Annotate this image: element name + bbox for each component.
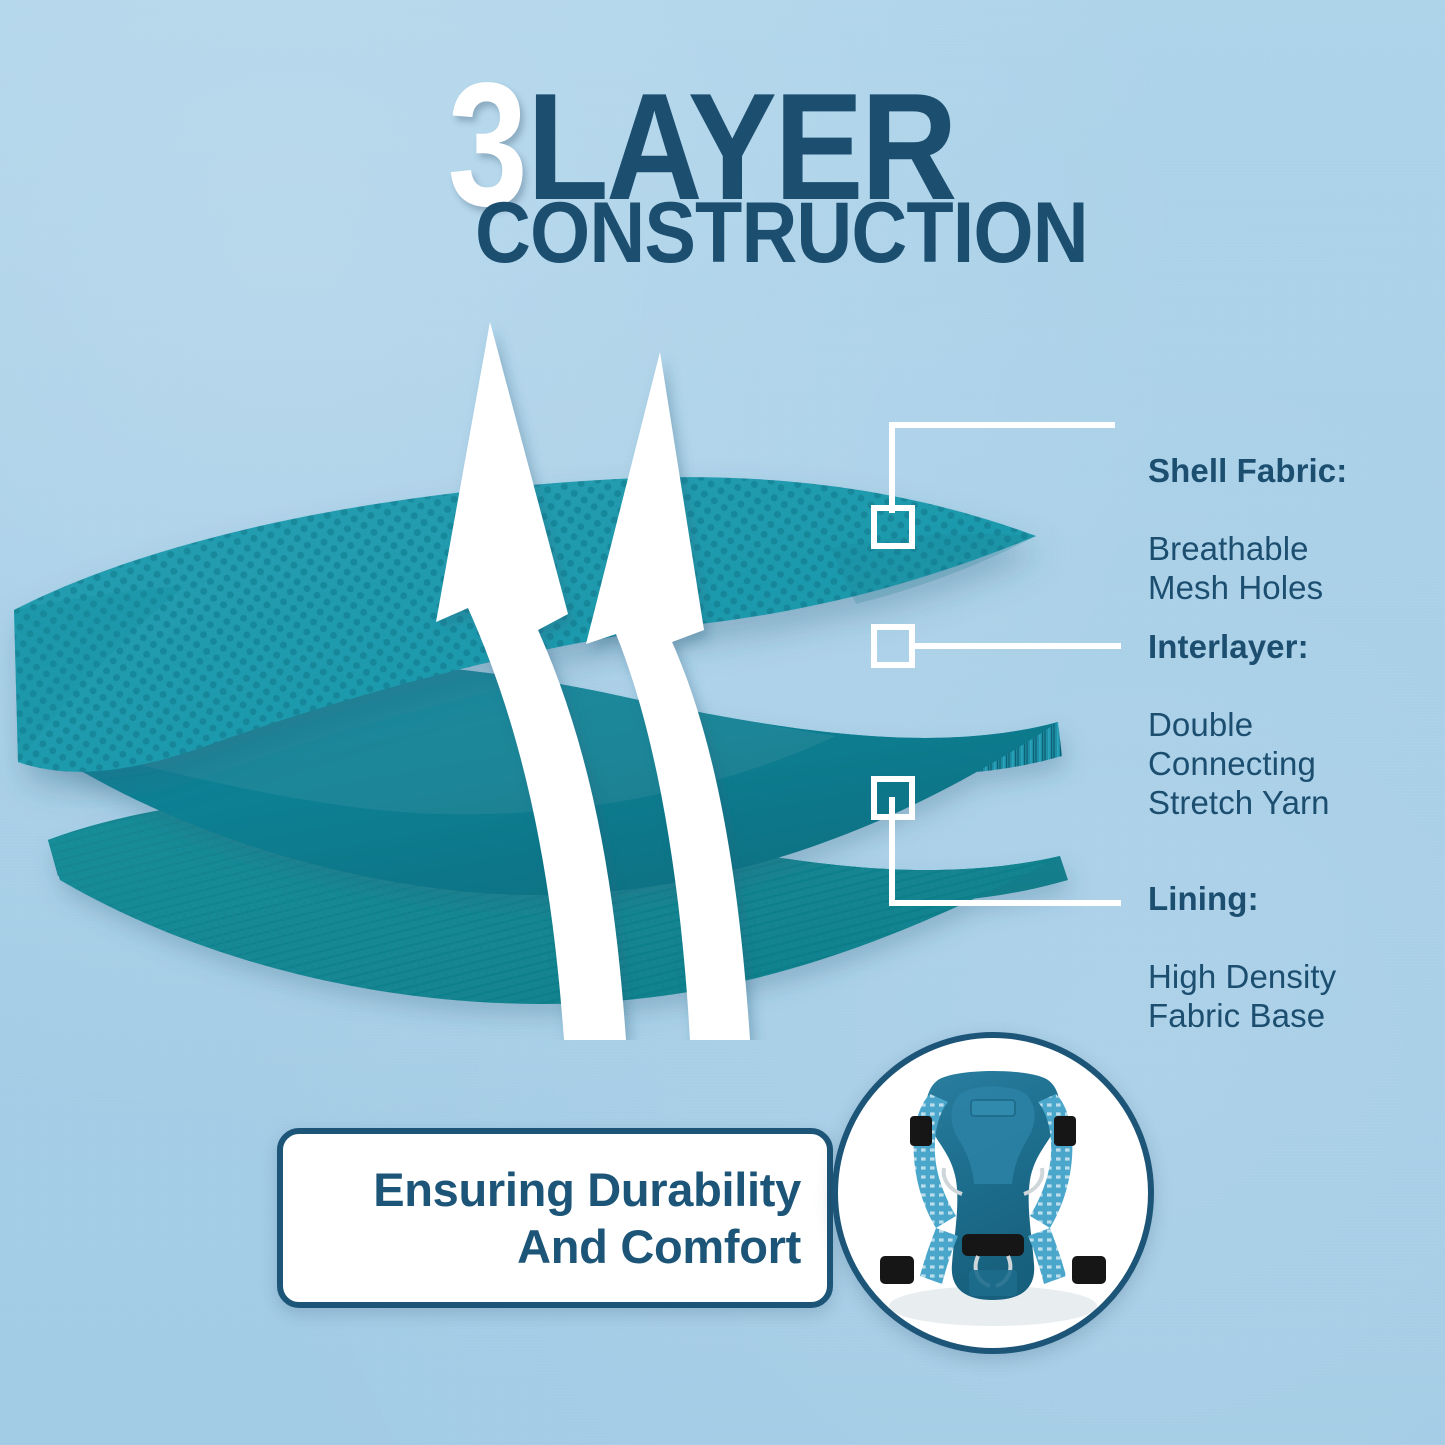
callout-interlayer: Interlayer: Double Connecting Stretch Ya… [1148,588,1330,861]
callout-interlayer-body: Double Connecting Stretch Yarn [1148,705,1330,822]
promo-card: Ensuring Durability And Comfort [277,1128,833,1308]
harness-girth-strap-right [1028,1228,1066,1284]
harness-buckle-right [1072,1256,1106,1284]
connector-shell-fabric [892,425,1112,510]
callout-shell-fabric-title: Shell Fabric: [1148,451,1347,490]
harness-front-buckle [962,1234,1024,1256]
connector-lining [892,800,1118,903]
layer-marker-square-icon-shell [874,508,912,546]
callout-lining-body: High Density Fabric Base [1148,957,1336,1035]
promo-text: Ensuring Durability And Comfort [373,1161,801,1275]
harness-buckle-left [880,1256,914,1284]
harness-front-loop [969,1270,1017,1296]
promo-line-2: And Comfort [373,1218,801,1275]
infographic-canvas: 3 LAYER CONSTRUCTION [0,0,1445,1445]
harness-adjuster-right [1054,1116,1076,1146]
layer-marker-square-icon-interlayer [874,627,912,665]
dog-harness-illustration [838,1038,1148,1348]
harness-girth-strap-left [920,1228,958,1284]
callout-lining-title: Lining: [1148,879,1336,918]
promo-line-1: Ensuring Durability [373,1161,801,1218]
harness-label-patch [971,1100,1015,1116]
product-photo-circle [832,1032,1154,1354]
harness-adjuster-left [910,1116,932,1146]
callout-lining: Lining: High Density Fabric Base [1148,840,1336,1074]
callout-interlayer-title: Interlayer: [1148,627,1330,666]
